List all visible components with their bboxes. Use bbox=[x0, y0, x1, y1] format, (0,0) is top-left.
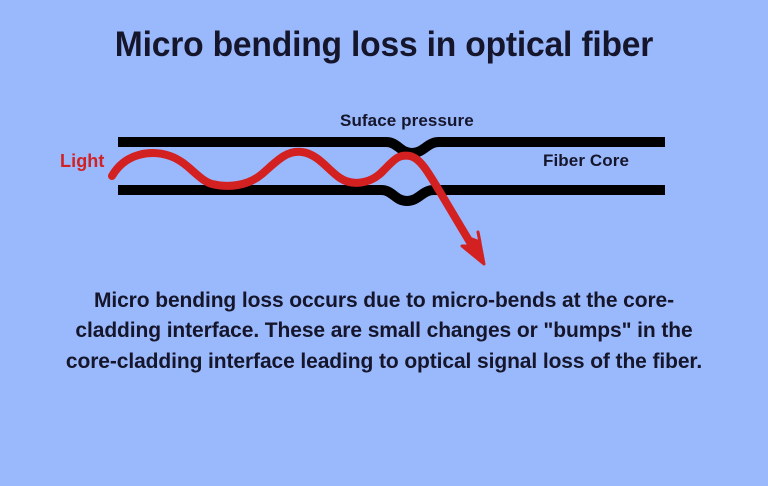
bottom-cladding-line bbox=[118, 190, 665, 201]
label-fiber-core: Fiber Core bbox=[543, 152, 629, 169]
page-title: Micro bending loss in optical fiber bbox=[15, 26, 752, 65]
escaping-ray-arrow bbox=[462, 232, 484, 264]
infographic-canvas: Micro bending loss in optical fiber Sufa… bbox=[0, 0, 768, 486]
caption-text: Micro bending loss occurs due to micro-b… bbox=[64, 286, 704, 377]
light-ray-wave bbox=[112, 152, 476, 252]
label-surface-pressure: Suface pressure bbox=[340, 112, 474, 129]
label-light: Light bbox=[60, 152, 104, 170]
